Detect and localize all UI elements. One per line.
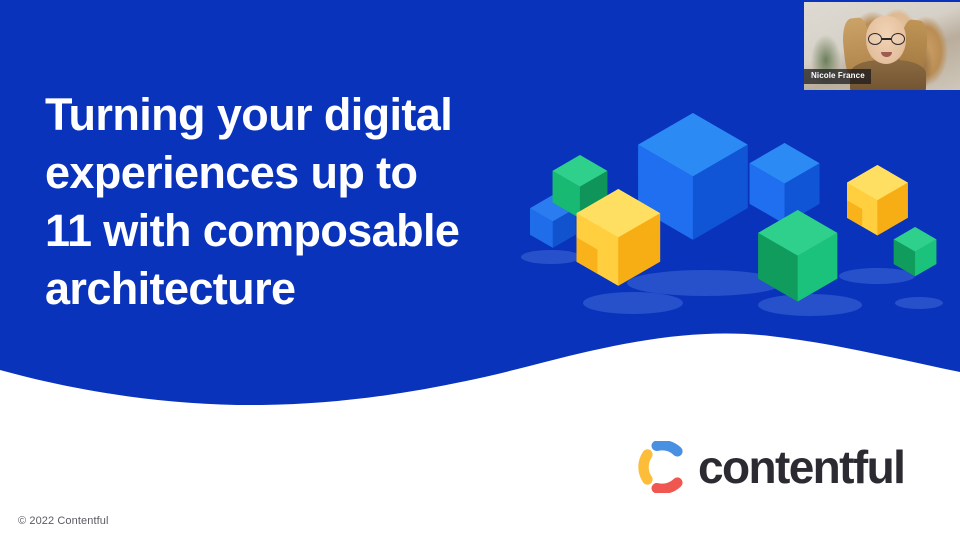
slide-title: Turning your digital experiences up to 1… xyxy=(45,86,515,318)
contentful-c-mark-icon xyxy=(636,441,688,493)
presentation-slide: Turning your digital experiences up to 1… xyxy=(0,0,960,540)
contentful-logo: contentful xyxy=(636,441,904,493)
glasses-lens-right xyxy=(891,33,905,45)
hexagon-green-small xyxy=(894,227,937,276)
participant-name-label: Nicole France xyxy=(804,69,871,84)
hexagon-blue-medium xyxy=(750,143,820,224)
composable-hexagon-illustration xyxy=(505,105,960,320)
copyright-text: © 2022 Contentful xyxy=(18,515,109,527)
title-line-1: Turning your digital xyxy=(45,86,515,144)
title-line-3: 11 with composable xyxy=(45,202,515,260)
webcam-glasses-icon xyxy=(868,33,905,45)
contentful-wordmark: contentful xyxy=(698,444,904,490)
webcam-participant-tile[interactable]: Nicole France xyxy=(800,0,960,90)
hexagon-yellow-right xyxy=(847,165,908,235)
title-line-4: architecture xyxy=(45,260,515,318)
glasses-bridge xyxy=(882,38,891,40)
title-line-2: experiences up to xyxy=(45,144,515,202)
glasses-lens-left xyxy=(868,33,882,45)
